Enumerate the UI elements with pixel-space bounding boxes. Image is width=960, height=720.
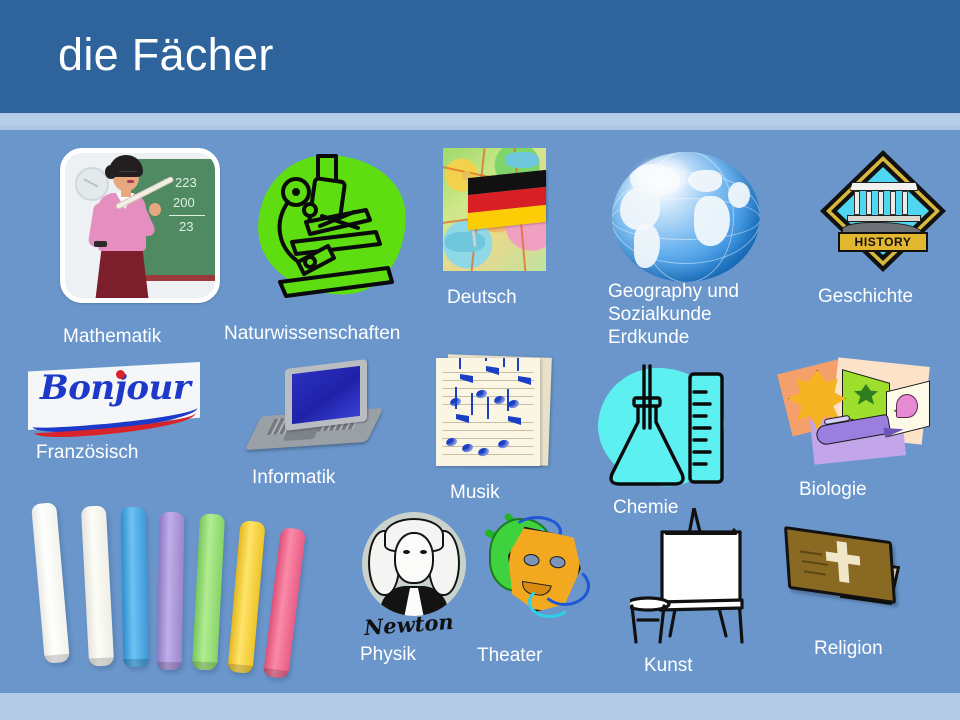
slide: die Fächer 223 200 23 – (0, 0, 960, 720)
teacher-blackboard-icon: 223 200 23 – (60, 148, 220, 303)
temple-column (878, 191, 884, 215)
newton-signature: Newton (363, 609, 454, 640)
subject-label-deutsch: Deutsch (447, 286, 517, 309)
note-head (461, 442, 474, 453)
staff-line (442, 446, 534, 447)
note-stem (487, 397, 489, 419)
subject-label-musik: Musik (450, 481, 500, 504)
newton-eye-right (420, 550, 427, 554)
subject-label-franzoesisch: Französisch (36, 441, 138, 464)
staff-line (442, 430, 534, 431)
map-water (505, 152, 539, 168)
chalk-stick-white-1 (31, 502, 70, 664)
teacher-watch (94, 241, 107, 247)
map-water (445, 232, 485, 252)
german-flag (468, 170, 546, 230)
temple-roof (850, 182, 918, 191)
teacher-glasses (119, 171, 137, 176)
note-flag (518, 376, 531, 385)
temple-column (902, 191, 908, 215)
subject-label-geographie: Geography und Sozialkunde Erdkunde (608, 280, 739, 349)
temple-column (854, 191, 860, 215)
subject-label-informatik: Informatik (252, 466, 335, 489)
teacher-skirt (95, 249, 149, 303)
newton-portrait-icon (362, 512, 466, 616)
chalk-stick-purple (157, 512, 185, 670)
laptop-screen (292, 366, 360, 424)
history-badge-icon: HISTORY (820, 150, 946, 272)
note-stem (507, 389, 509, 411)
note-flag (508, 416, 521, 425)
blackboard-line-2: 200 (173, 195, 195, 210)
teacher-lips (127, 180, 134, 183)
landmass (728, 182, 750, 208)
subject-label-naturwissenschaften: Naturwissenschaften (224, 322, 400, 345)
subject-label-theater: Theater (477, 644, 542, 667)
note-stem (471, 393, 473, 415)
temple-column (890, 191, 896, 215)
subject-label-kunst: Kunst (644, 654, 693, 677)
chalk-stick-blue (121, 507, 149, 667)
staff-line (442, 454, 534, 455)
newton-face (394, 532, 434, 584)
header-divider (0, 113, 960, 130)
blackboard-line-1: 223 (175, 175, 197, 190)
note-stem (455, 387, 457, 409)
footer-band (0, 693, 960, 720)
mask-eye-left (523, 553, 541, 567)
sheet-music-icon (436, 358, 540, 466)
subject-label-mathematik: Mathematik (63, 325, 161, 348)
note-stem (517, 358, 519, 371)
note-flag (460, 374, 473, 383)
note-head (497, 438, 510, 449)
subject-label-physik: Physik (360, 643, 416, 666)
chalk-stick-white-2 (81, 505, 114, 666)
temple-base (847, 215, 921, 222)
laptop-icon (285, 359, 367, 431)
teacher-hair-bun (105, 165, 117, 179)
bible-icon (786, 534, 904, 614)
blackboard-rule (169, 215, 205, 216)
landmass (688, 170, 722, 192)
flower-icon (896, 394, 918, 418)
leaf-book-pen-icon (782, 360, 938, 472)
note-stem (485, 358, 487, 361)
slide-header: die Fächer (0, 0, 960, 113)
note-stem (459, 358, 461, 369)
chalk-stick-pink (263, 527, 306, 679)
note-head (477, 446, 490, 457)
greek-temple-icon (850, 182, 918, 224)
subject-label-biologie: Biologie (799, 478, 867, 501)
bonjour-accent-dot (116, 370, 125, 379)
history-banner: HISTORY (838, 232, 928, 252)
newton-eye-left (403, 550, 410, 554)
ribbon-cyan-lower (528, 586, 572, 618)
chalk-stick-yellow (227, 520, 265, 674)
teacher-hand (149, 203, 161, 216)
chalk-stick-green (192, 513, 225, 670)
note-stem (503, 358, 505, 367)
staff-line (442, 372, 534, 373)
subject-label-geschichte: Geschichte (818, 285, 913, 308)
subject-label-religion: Religion (814, 637, 883, 660)
globe-highlight (636, 160, 690, 194)
note-flag (486, 366, 499, 375)
page-title: die Fächer (58, 32, 274, 77)
blackboard-line-3: 23 (179, 219, 193, 234)
temple-column (866, 191, 872, 215)
